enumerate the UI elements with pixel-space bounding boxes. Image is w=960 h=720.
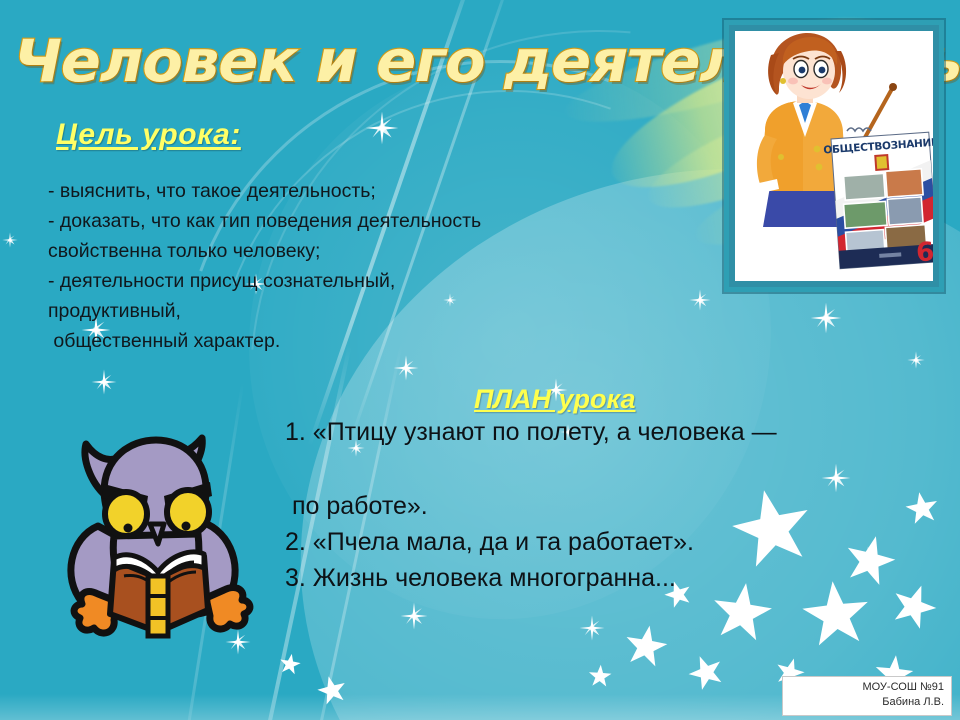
owl-illustration [52, 418, 284, 650]
goal-line: свойственна только человеку; [48, 236, 568, 266]
goal-text-block: - выяснить, что такое деятельность; - до… [48, 176, 568, 356]
sparkle-star-icon [400, 602, 428, 630]
five-point-star-icon [683, 649, 730, 696]
page-title: Человек и его деятельность [14, 24, 728, 98]
teacher-picture-frame: ОБЩЕСТВОЗНАНИЕ 6 [724, 20, 944, 292]
five-point-star-icon [314, 672, 350, 708]
presentation-slide: Человек и его деятельность Цель урока: -… [0, 0, 960, 720]
svg-text:6: 6 [915, 237, 933, 268]
sparkle-star-icon [907, 351, 925, 369]
footer-school: МОУ-СОШ №91 [783, 680, 944, 695]
plan-item: 2. «Пчела мала, да и та работает». [285, 524, 945, 560]
five-point-star-icon [277, 651, 302, 676]
goal-line: продуктивный, [48, 296, 568, 326]
goal-line: - выяснить, что такое деятельность; [48, 176, 568, 206]
sparkle-star-icon [810, 302, 842, 334]
five-point-star-icon [587, 663, 613, 689]
plan-item: по работе». [285, 488, 945, 524]
plan-item: 3. Жизнь человека многогранна... [285, 560, 945, 596]
five-point-star-icon [621, 621, 672, 672]
sparkle-star-icon [91, 369, 117, 395]
goal-heading: Цель урока: [56, 118, 241, 152]
sparkle-star-icon [393, 355, 419, 381]
owl-reading-book-icon [52, 418, 284, 650]
footer-credit: МОУ-СОШ №91 Бабина Л.В. [782, 676, 952, 716]
sparkle-star-icon [689, 289, 711, 311]
goal-line: общественный характер. [48, 326, 568, 356]
teacher-with-textbook-icon: ОБЩЕСТВОЗНАНИЕ 6 [735, 31, 933, 279]
sparkle-star-icon [579, 615, 605, 641]
plan-item: 1. «Птицу узнают по полету, а человека — [285, 414, 945, 450]
sparkle-star-icon [2, 232, 18, 248]
footer-author: Бабина Л.В. [783, 695, 944, 710]
sparkle-star-icon [365, 111, 399, 145]
plan-heading: ПЛАН урока [474, 384, 636, 415]
teacher-illustration: ОБЩЕСТВОЗНАНИЕ 6 [735, 31, 933, 281]
goal-line: - деятельности присущ сознательный, [48, 266, 568, 296]
goal-line: - доказать, что как тип поведения деятел… [48, 206, 568, 236]
plan-list: 1. «Птицу узнают по полету, а человека —… [285, 414, 945, 596]
